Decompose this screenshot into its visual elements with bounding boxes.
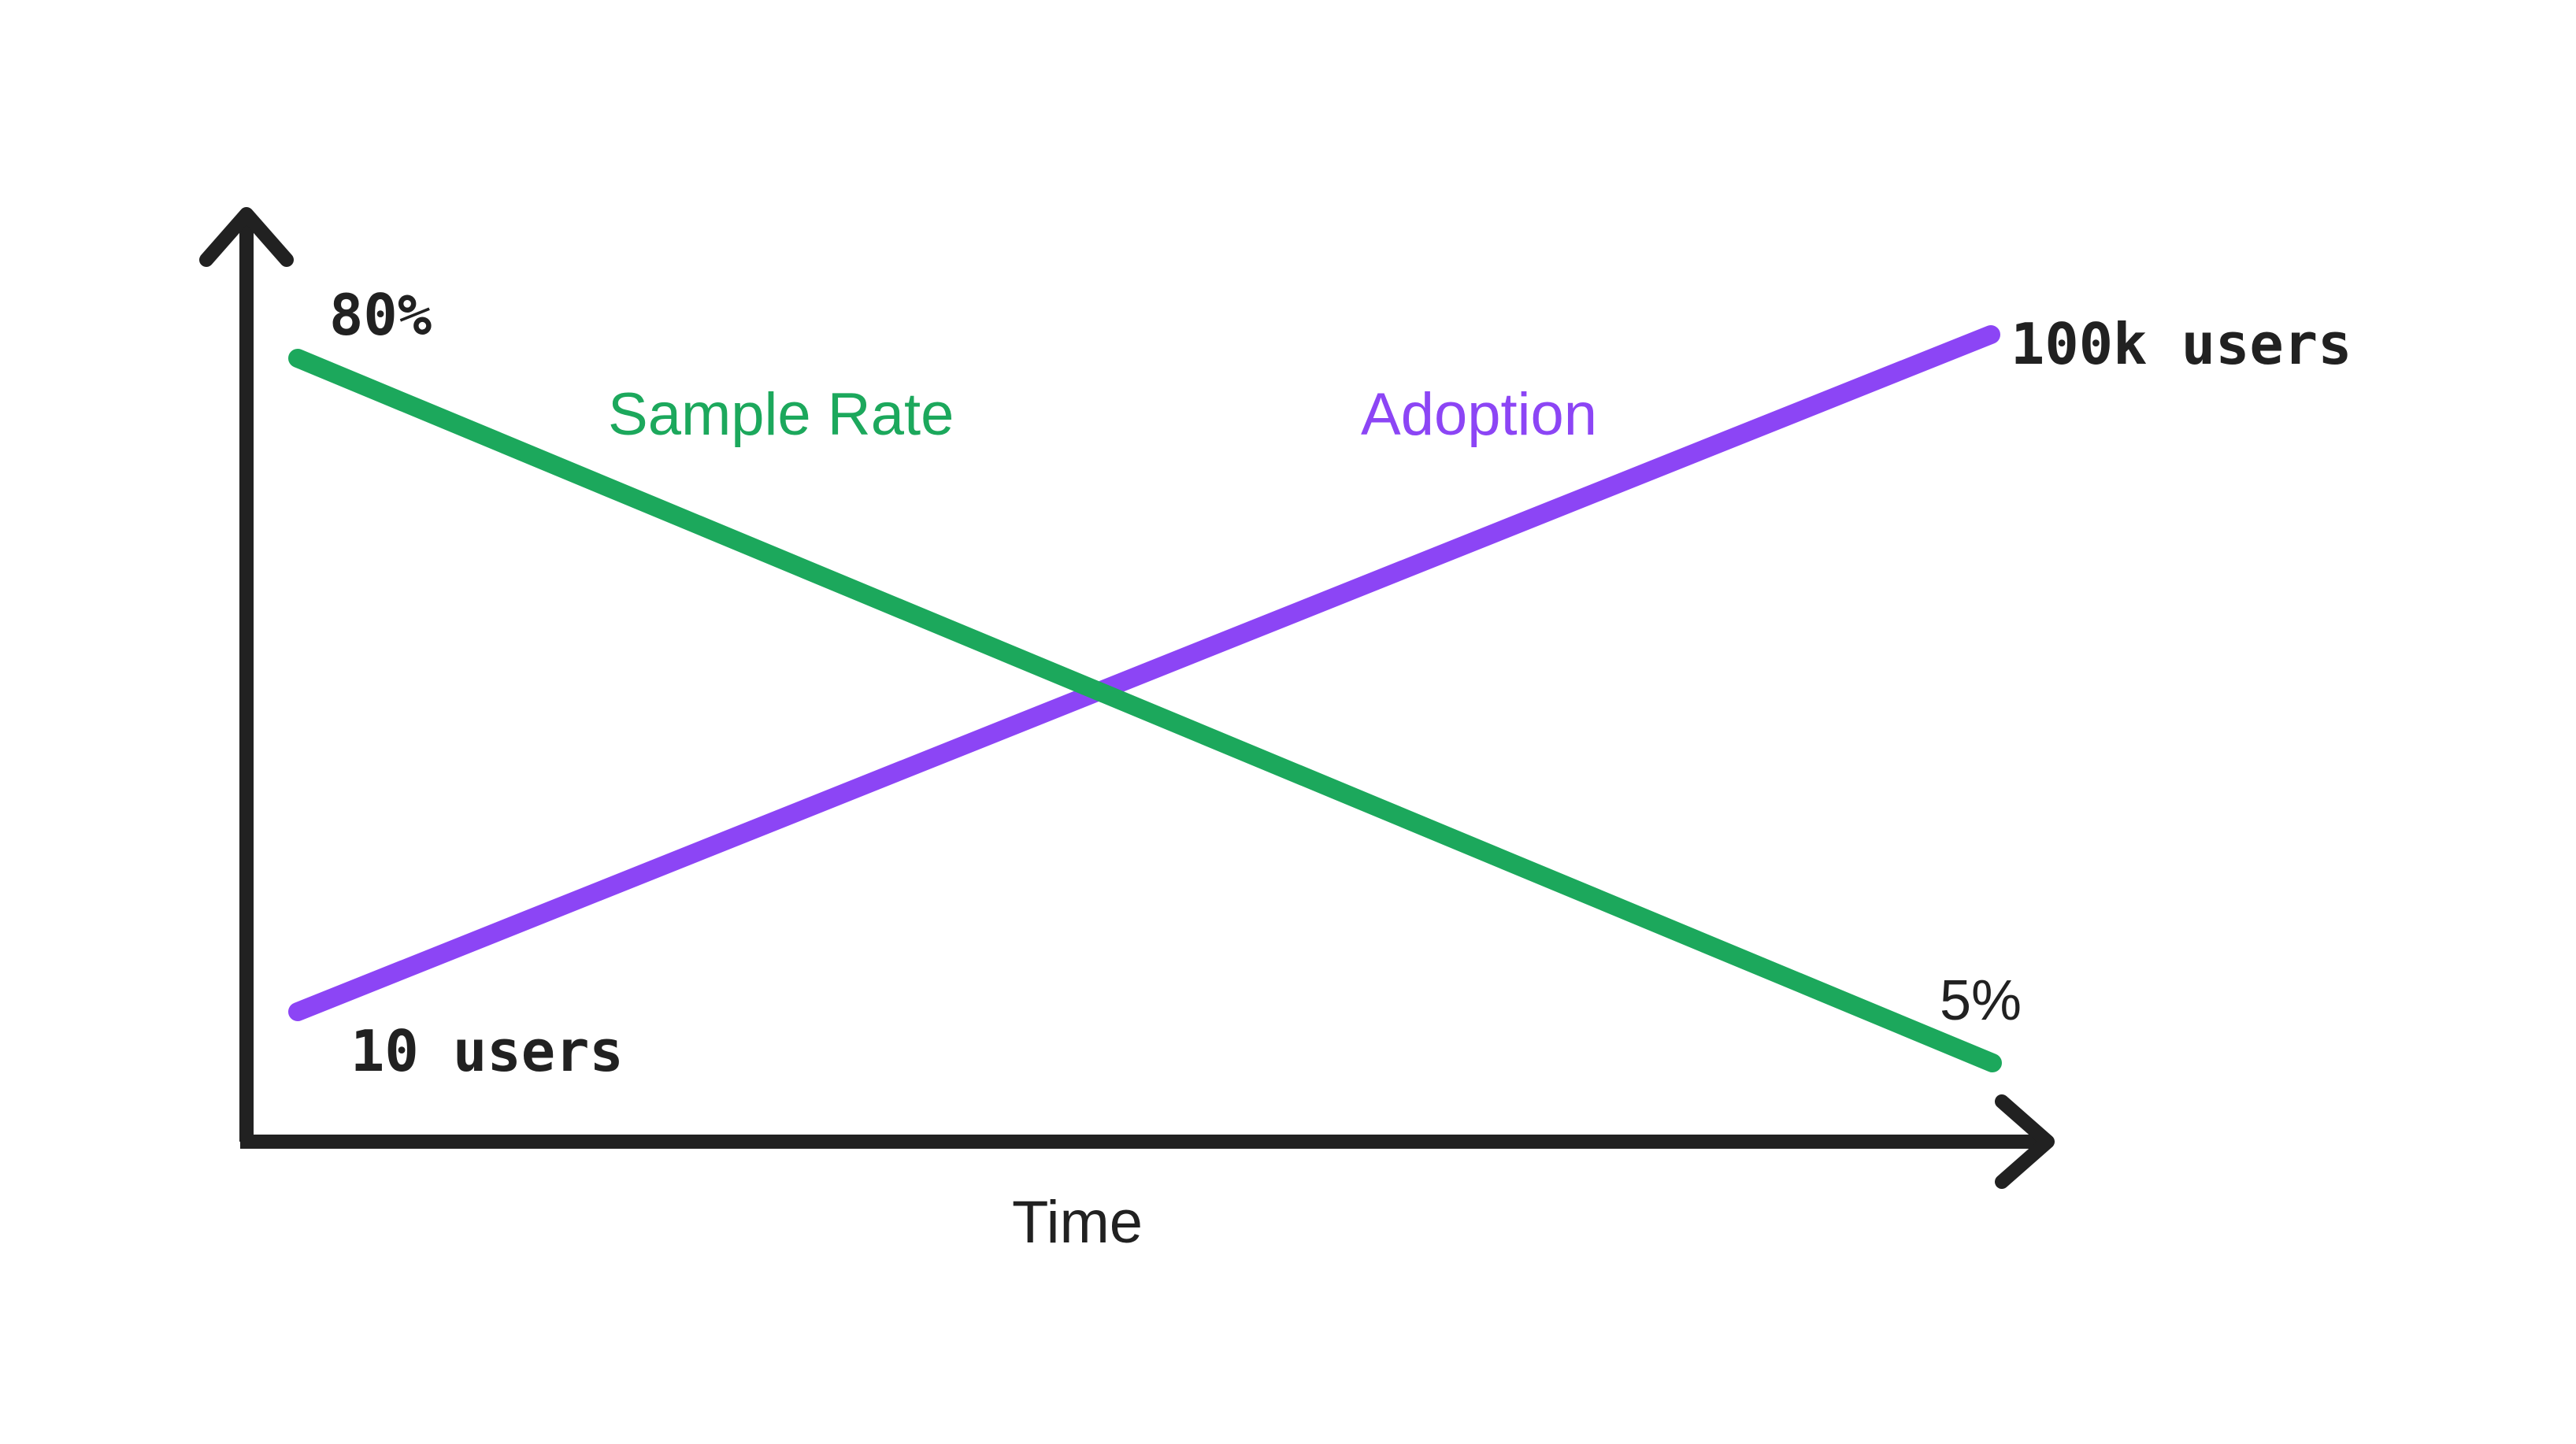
y-axis	[206, 214, 287, 1142]
chart-canvas: 80% 5% 10 users 100k users Sample Rate A…	[0, 0, 2576, 1444]
sample-rate-line	[298, 358, 1992, 1063]
x-axis	[240, 1102, 2048, 1182]
series-label-sample-rate: Sample Rate	[608, 381, 954, 448]
tradeoff-line-chart: 80% 5% 10 users 100k users Sample Rate A…	[0, 0, 2576, 1444]
adoption-start-label: 10 users	[350, 1018, 624, 1084]
sample-rate-start-label: 80%	[329, 282, 432, 348]
adoption-line	[298, 335, 1991, 1012]
x-axis-title: Time	[1012, 1189, 1143, 1256]
series-label-adoption: Adoption	[1361, 381, 1597, 448]
adoption-end-label: 100k users	[2011, 311, 2352, 377]
sample-rate-end-label: 5%	[1940, 969, 2022, 1032]
